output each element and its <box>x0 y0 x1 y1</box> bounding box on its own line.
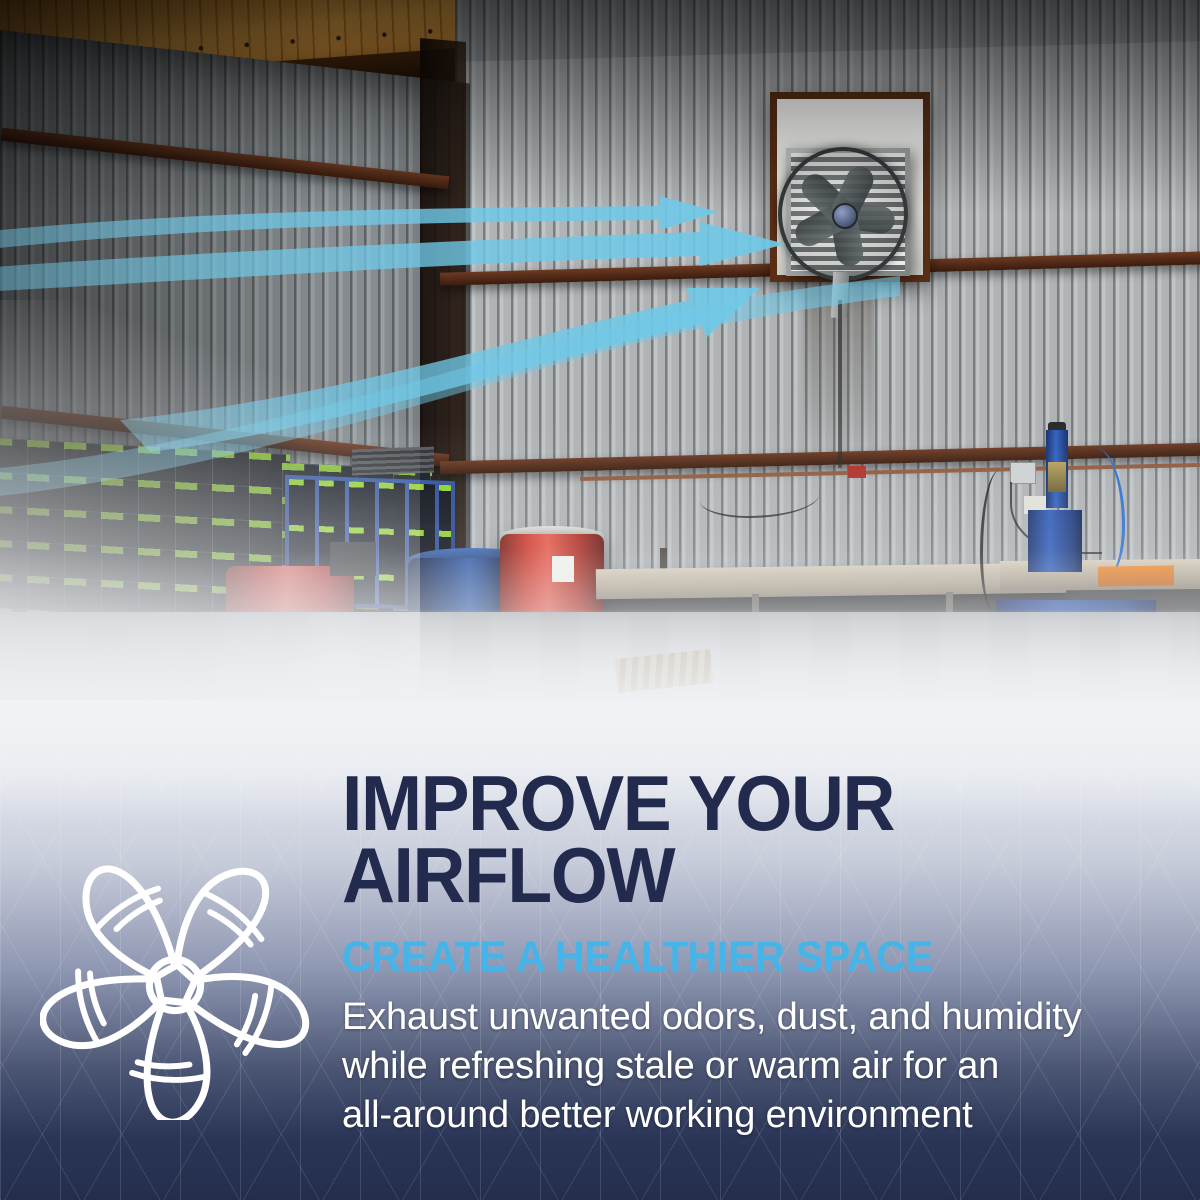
airflow-arrow-3 <box>120 288 760 452</box>
poster-canvas: 1272 <box>0 0 1200 1200</box>
body-copy: Exhaust unwanted odors, dust, and humidi… <box>342 993 1172 1141</box>
subheading: CREATE A HEALTHIER SPACE <box>342 936 1139 979</box>
airflow-stream <box>0 276 900 498</box>
text-column: IMPROVE YOUR AIRFLOW CREATE A HEALTHIER … <box>342 768 1172 1141</box>
panel-content: IMPROVE YOUR AIRFLOW CREATE A HEALTHIER … <box>0 700 1200 1200</box>
fan-blade-icon <box>40 850 310 1120</box>
airflow-arrows <box>0 0 1200 760</box>
fan-blade <box>155 864 285 982</box>
fan-blade <box>180 939 310 1079</box>
page-title: IMPROVE YOUR AIRFLOW <box>342 768 1122 912</box>
warehouse-photo: 1272 <box>0 0 1200 760</box>
